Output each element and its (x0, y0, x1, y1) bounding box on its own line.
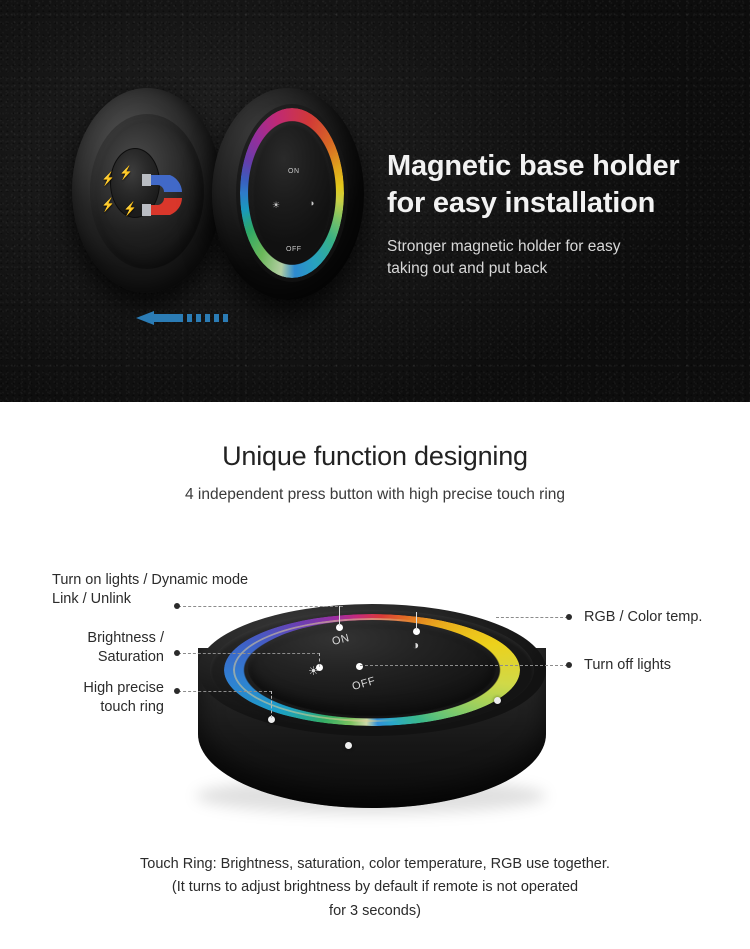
callout-dot-3 (174, 688, 180, 694)
callout-line-4 (496, 617, 568, 618)
color-palette-icon[interactable]: ◑ (412, 638, 419, 652)
callout-dot-2 (174, 650, 180, 656)
ring-marker-dot (345, 742, 352, 749)
hero-section: ⚡ ⚡ ⚡ ⚡ ON OFF ☀ ◑ Magnetic base holder … (0, 0, 750, 402)
callout-label-line1: High precise (20, 679, 164, 698)
callout-dot-5 (566, 662, 572, 668)
callout-label-turn-on: Turn on lights / Dynamic mode Link / Unl… (52, 571, 164, 609)
hero-subtitle: Stronger magnetic holder for easy taking… (387, 236, 727, 280)
callout-line-1 (178, 606, 343, 607)
bottom-note: Touch Ring: Brightness, saturation, colo… (0, 853, 750, 923)
callout-line-2 (178, 653, 320, 654)
hero-text-block: Magnetic base holder for easy installati… (387, 148, 727, 280)
callout-label-line1: Turn on lights / Dynamic mode (52, 571, 164, 590)
callout-label-turn-off: Turn off lights (584, 656, 671, 675)
bottom-note-line1: Touch Ring: Brightness, saturation, colo… (0, 853, 750, 876)
remote-button-plate-hero (252, 122, 332, 264)
callout-label-rgb: RGB / Color temp. (584, 608, 702, 627)
color-palette-icon[interactable]: ◑ (309, 198, 314, 208)
remote-off-button-hero[interactable]: OFF (286, 246, 302, 253)
hero-title-line1: Magnetic base holder (387, 148, 727, 185)
callout-line-3 (178, 691, 272, 692)
callout-label-line2: Saturation (20, 648, 164, 667)
remote-on-button-hero[interactable]: ON (288, 168, 300, 175)
callout-line-2-drop (319, 653, 320, 667)
section-subtitle: 4 independent press button with high pre… (0, 486, 750, 504)
callout-label-line2: Link / Unlink (52, 590, 164, 609)
callout-dot-4 (566, 614, 572, 620)
hero-title: Magnetic base holder for easy installati… (387, 148, 727, 222)
callout-label-brightness: Brightness / Saturation (20, 629, 164, 667)
ring-marker-dot (494, 697, 501, 704)
callout-label-line2: touch ring (20, 698, 164, 717)
hero-subtitle-line1: Stronger magnetic holder for easy (387, 236, 727, 258)
left-arrow-dashed-icon (136, 308, 236, 330)
lead-line (416, 612, 417, 630)
callout-line-3-drop (271, 691, 272, 718)
horseshoe-magnet-icon: ⚡ ⚡ ⚡ ⚡ (100, 166, 190, 224)
device-button-plate (248, 620, 496, 716)
hero-title-line2: for easy installation (387, 185, 727, 222)
bottom-note-line2: (It turns to adjust brightness by defaul… (0, 876, 750, 899)
section-title: Unique function designing (0, 441, 750, 472)
hero-subtitle-line2: taking out and put back (387, 258, 727, 280)
callout-label-line1: Brightness / (20, 629, 164, 648)
lead-line (339, 606, 340, 626)
callout-label-touch-ring: High precise touch ring (20, 679, 164, 717)
bottom-note-line3: for 3 seconds) (0, 900, 750, 923)
callout-line-5 (360, 665, 568, 666)
callout-dot-1 (174, 603, 180, 609)
brightness-icon[interactable]: ☀ (272, 200, 280, 211)
